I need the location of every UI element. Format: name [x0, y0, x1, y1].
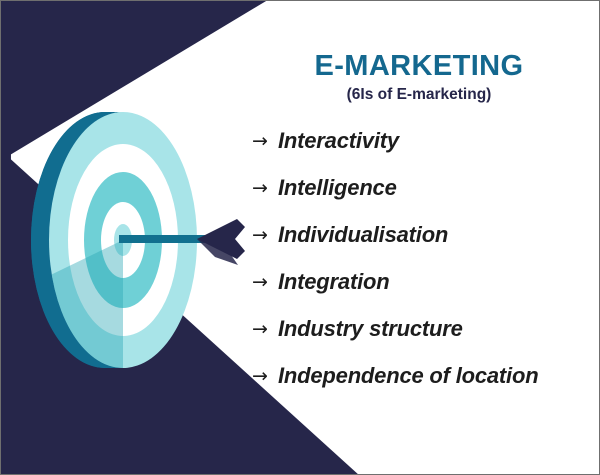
list-item-label: Intelligence — [278, 174, 592, 202]
list-item: → Interactivity — [252, 127, 592, 155]
list-item: → Intelligence — [252, 174, 592, 202]
list-item: → Industry structure — [252, 315, 592, 343]
arrow-right-icon: → — [252, 221, 278, 249]
page-title: E-MARKETING — [249, 51, 589, 81]
list-item-label: Interactivity — [278, 127, 592, 155]
list-item-label: Independence of location — [278, 362, 592, 390]
arrow-right-icon: → — [252, 362, 278, 390]
list-item: → Integration — [252, 268, 592, 296]
feature-list: → Interactivity → Intelligence → Individ… — [252, 127, 592, 409]
slide-canvas: E-MARKETING (6Is of E-marketing) → Inter… — [0, 0, 600, 475]
navy-wedge-left-edge — [1, 1, 11, 474]
list-item: → Independence of location — [252, 362, 592, 390]
arrow-right-icon: → — [252, 268, 278, 296]
content-column: E-MARKETING (6Is of E-marketing) → Inter… — [249, 1, 595, 475]
target-graphic — [19, 105, 249, 375]
list-item: → Individualisation — [252, 221, 592, 249]
arrow-right-icon: → — [252, 127, 278, 155]
arrow-right-icon: → — [252, 174, 278, 202]
arrow-right-icon: → — [252, 315, 278, 343]
title-block: E-MARKETING (6Is of E-marketing) — [249, 51, 589, 103]
page-subtitle: (6Is of E-marketing) — [249, 86, 589, 103]
list-item-label: Individualisation — [278, 221, 592, 249]
list-item-label: Industry structure — [278, 315, 592, 343]
list-item-label: Integration — [278, 268, 592, 296]
